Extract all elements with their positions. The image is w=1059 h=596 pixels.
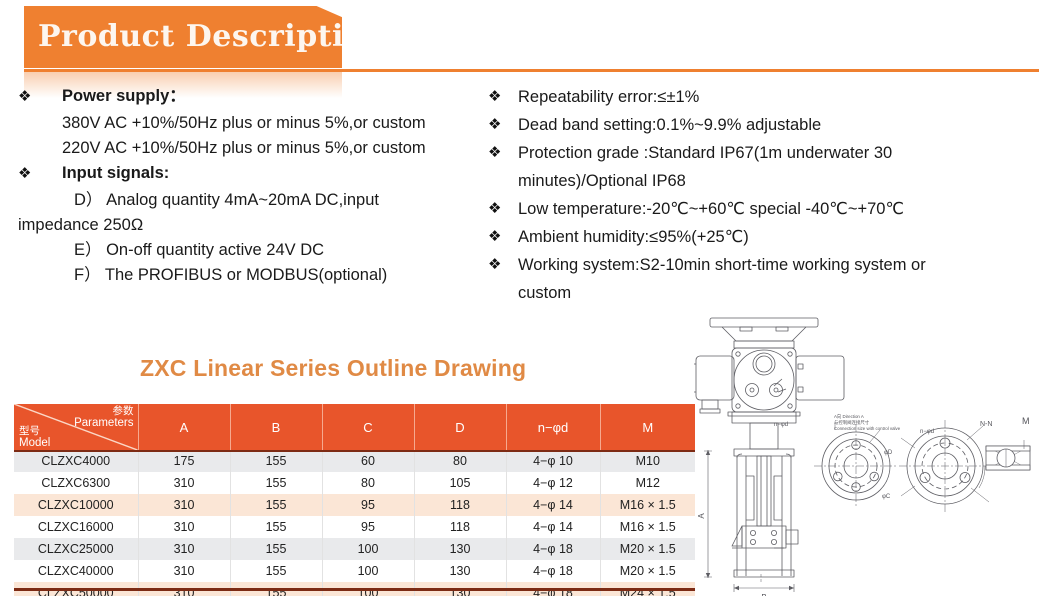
page-title: Product Description (38, 22, 387, 52)
table-row: CLZXC6300 310 155 80 105 4−φ 12 M12 (14, 472, 695, 494)
cell-d: 130 (414, 538, 506, 560)
diamond-bullet-icon: ❖ (488, 84, 518, 109)
cell-nd: 4−φ 14 (506, 516, 600, 538)
cell-model: CLZXC40000 (14, 560, 138, 582)
cell-m: M10 (600, 450, 695, 472)
table-row: CLZXC10000 310 155 95 118 4−φ 14 M16 × 1… (14, 494, 695, 516)
spec-text: Input signals: (62, 161, 169, 186)
cell-model: CLZXC6300 (14, 472, 138, 494)
label-nd-left: n−φd (774, 422, 788, 428)
spec-item-continuation: minutes)/Optional IP68 (488, 168, 1033, 194)
spec-text: 380V AC +10%/50Hz plus or minus 5%,or cu… (10, 111, 480, 136)
spec-text: impedance 250Ω (10, 213, 480, 238)
section-heading: ZXC Linear Series Outline Drawing (140, 355, 526, 382)
cell-d: 118 (414, 516, 506, 538)
spec-text: Repeatability error:≤±1% (518, 84, 699, 110)
column-header-nd: n−φd (506, 404, 600, 450)
diamond-bullet-icon: ❖ (488, 196, 518, 221)
cell-model: CLZXC16000 (14, 516, 138, 538)
spec-item: ❖ Dead band setting:0.1%~9.9% adjustable (488, 112, 1033, 138)
spec-item: ❖ Protection grade :Standard IP67(1m und… (488, 140, 1033, 166)
spec-item: ❖ Repeatability error:≤±1% (488, 84, 1033, 110)
spec-text: Protection grade :Standard IP67(1m under… (518, 140, 892, 166)
cell-c: 60 (322, 450, 414, 472)
table-row: CLZXC4000 175 155 60 80 4−φ 10 M10 (14, 450, 695, 472)
cell-d: 118 (414, 494, 506, 516)
cell-model: CLZXC4000 (14, 450, 138, 472)
cell-nd: 4−φ 10 (506, 450, 600, 472)
cell-a: 310 (138, 516, 230, 538)
cell-b: 155 (230, 516, 322, 538)
cell-c: 100 (322, 560, 414, 582)
table-header-underline (14, 450, 695, 452)
label-phi-c: φC (882, 494, 891, 500)
spec-item: ❖ Power supply： (10, 84, 480, 109)
cell-m: M16 × 1.5 (600, 494, 695, 516)
cell-m: M16 × 1.5 (600, 516, 695, 538)
table-header-row: 参数 Parameters 型号 Model A B C D n− (14, 404, 695, 450)
cell-model: CLZXC25000 (14, 538, 138, 560)
cell-m: M12 (600, 472, 695, 494)
mounting-plate (710, 318, 818, 327)
cell-d: 130 (414, 560, 506, 582)
spec-text: Dead band setting:0.1%~9.9% adjustable (518, 112, 821, 138)
cell-m: M20 × 1.5 (600, 538, 695, 560)
parameters-label: 参数 Parameters (74, 406, 133, 429)
cell-c: 95 (322, 494, 414, 516)
column-header-a: A (138, 404, 230, 450)
column-header-c: C (322, 404, 414, 450)
direction-note-cn: A向 Direction A (834, 413, 864, 419)
diamond-bullet-icon: ❖ (488, 140, 518, 165)
diamond-bullet-icon: ❖ (488, 224, 518, 249)
header-banner: Product Description (0, 0, 1059, 80)
spec-column-left: ❖ Power supply： 380V AC +10%/50Hz plus o… (10, 84, 480, 288)
cell-b: 155 (230, 450, 322, 472)
diamond-bullet-icon: ❖ (488, 252, 518, 277)
cell-c: 100 (322, 538, 414, 560)
banner-shape: Product Description (24, 6, 342, 68)
label-m: M (1022, 416, 1030, 426)
column-header-m: M (600, 404, 695, 450)
table-row: CLZXC25000 310 155 100 130 4−φ 18 M20 × … (14, 538, 695, 560)
dimension-label-a: A (697, 513, 706, 519)
cell-nd: 4−φ 14 (506, 494, 600, 516)
cell-a: 310 (138, 560, 230, 582)
table-bottom-border (14, 588, 695, 591)
cell-model: CLZXC10000 (14, 494, 138, 516)
spec-item: ❖ Working system:S2-10min short-time wor… (488, 252, 1033, 278)
spec-text: E） On-off quantity active 24V DC (10, 238, 480, 263)
specifications-section: ❖ Power supply： 380V AC +10%/50Hz plus o… (0, 84, 1059, 334)
cell-nd: 4−φ 18 (506, 560, 600, 582)
cell-d: 105 (414, 472, 506, 494)
spec-text: Low temperature:-20℃~+60℃ special -40℃~+… (518, 196, 904, 222)
label-phi-d: φD (884, 450, 893, 456)
slide-page: Product Description ❖ Power supply： 380V… (0, 0, 1059, 596)
spec-column-right: ❖ Repeatability error:≤±1% ❖ Dead band s… (488, 84, 1033, 308)
cell-b: 155 (230, 494, 322, 516)
spec-item: ❖ Ambient humidity:≤95%(+25℃) (488, 224, 1033, 250)
column-header-b: B (230, 404, 322, 450)
cell-c: 80 (322, 472, 414, 494)
cell-d: 80 (414, 450, 506, 472)
diamond-bullet-icon: ❖ (488, 112, 518, 137)
label-nd-right: n−φd (920, 429, 934, 435)
spec-text: Power supply： (62, 84, 186, 109)
cell-nd: 4−φ 12 (506, 472, 600, 494)
spec-text: F） The PROFIBUS or MODBUS(optional) (10, 263, 480, 288)
outline-drawing: A B A向 Direction A 与控制阀连接尺寸 Connection s… (688, 308, 1059, 596)
cell-b: 155 (230, 472, 322, 494)
cell-a: 310 (138, 494, 230, 516)
cell-nd: 4−φ 18 (506, 538, 600, 560)
section-label: N-N (980, 421, 992, 428)
spec-text: Working system:S2-10min short-time worki… (518, 252, 926, 278)
dimensions-table: 参数 Parameters 型号 Model A B C D n− (14, 404, 695, 596)
cell-b: 155 (230, 538, 322, 560)
spec-text: custom (518, 280, 571, 306)
diamond-bullet-icon: ❖ (10, 84, 62, 109)
spec-item: ❖ Low temperature:-20℃~+60℃ special -40℃… (488, 196, 1033, 222)
cell-b: 155 (230, 560, 322, 582)
spec-item: ❖ Input signals: (10, 161, 480, 186)
spec-item-continuation: custom (488, 280, 1033, 306)
banner-divider-rule (24, 69, 1039, 72)
table-row: CLZXC40000 310 155 100 130 4−φ 18 M20 × … (14, 560, 695, 582)
connection-note-en: Connection size with control valve (834, 426, 901, 431)
cell-a: 175 (138, 450, 230, 472)
spec-text: D） Analog quantity 4mA~20mA DC,input (10, 188, 480, 213)
cell-a: 310 (138, 472, 230, 494)
column-header-d: D (414, 404, 506, 450)
connection-note-cn: 与控制阀连接尺寸 (834, 419, 870, 426)
cell-a: 310 (138, 538, 230, 560)
spec-text: minutes)/Optional IP68 (518, 168, 686, 194)
spec-text: 220V AC +10%/50Hz plus or minus 5%,or cu… (10, 136, 480, 161)
model-label: 型号 Model (19, 426, 50, 449)
table-corner-header: 参数 Parameters 型号 Model (14, 404, 138, 450)
cell-m: M20 × 1.5 (600, 560, 695, 582)
table-row: CLZXC16000 310 155 95 118 4−φ 14 M16 × 1… (14, 516, 695, 538)
cell-c: 95 (322, 516, 414, 538)
diamond-bullet-icon: ❖ (10, 161, 62, 186)
spec-text: Ambient humidity:≤95%(+25℃) (518, 224, 749, 250)
